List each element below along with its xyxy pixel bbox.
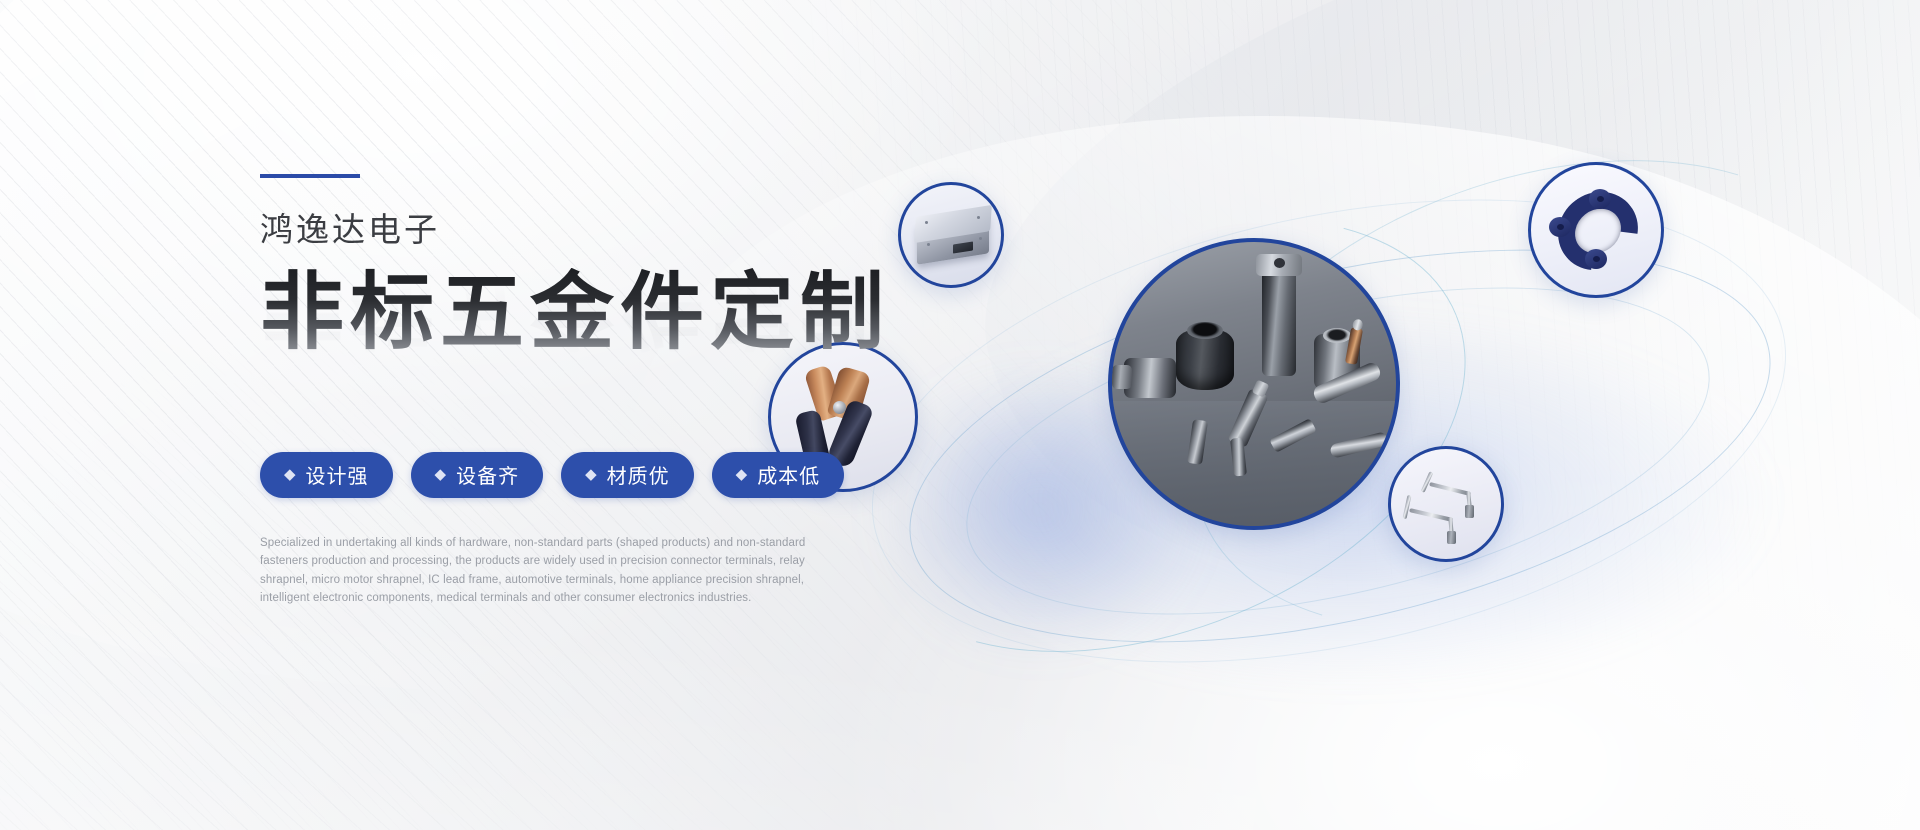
diamond-icon: ◆ [585, 467, 598, 482]
part-chrome-spindle [1262, 268, 1296, 376]
pin-contact-tip [1465, 505, 1474, 518]
diamond-icon: ◆ [435, 467, 448, 482]
retaining-ring-hole [1557, 224, 1564, 230]
feature-pill-list: ◆ 设计强 ◆ 设备齐 ◆ 材质优 ◆ 成本低 [260, 452, 940, 498]
page-title: 非标五金件定制 [260, 268, 940, 357]
product-node-bent-terminal-pins[interactable] [1388, 446, 1504, 562]
enclosure-screw [979, 237, 982, 240]
hero-banner: 鸿逸达电子 非标五金件定制 非标五金件定制 ◆ 设计强 ◆ 设备齐 ◆ 材质优 … [0, 0, 1920, 830]
feature-pill-label: 成本低 [757, 460, 820, 489]
feature-pill-label: 设备齐 [456, 460, 519, 489]
product-visual-stage [880, 120, 1860, 720]
feature-pill-label: 设计强 [306, 460, 369, 489]
enclosure-screw [977, 216, 980, 219]
feature-pill-cost[interactable]: ◆ 成本低 [712, 452, 845, 498]
feature-pill-material[interactable]: ◆ 材质优 [561, 452, 694, 498]
diamond-icon: ◆ [736, 467, 749, 482]
retaining-ring-hole [1593, 256, 1600, 262]
pin-segment [1409, 508, 1453, 522]
product-node-precision-hardware-parts[interactable] [1108, 238, 1400, 530]
pin-segment [1403, 495, 1412, 519]
headline-block: 非标五金件定制 非标五金件定制 [260, 268, 940, 438]
pin-contact-tip [1447, 531, 1456, 544]
retaining-ring-hole [1597, 196, 1604, 202]
accent-bar [260, 174, 360, 178]
brand-name: 鸿逸达电子 [260, 210, 940, 250]
hero-text-column: 鸿逸达电子 非标五金件定制 非标五金件定制 ◆ 设计强 ◆ 设备齐 ◆ 材质优 … [260, 174, 940, 608]
feature-pill-design[interactable]: ◆ 设计强 [260, 452, 393, 498]
bent-terminal-pins-image [1391, 449, 1501, 559]
precision-hardware-parts-image [1112, 242, 1396, 526]
intro-paragraph: Specialized in undertaking all kinds of … [260, 534, 820, 609]
pin-segment [1429, 482, 1471, 496]
part-black-bushing [1176, 328, 1234, 390]
blue-retaining-ring-image [1531, 165, 1661, 295]
diamond-icon: ◆ [284, 467, 297, 482]
product-node-blue-retaining-ring[interactable] [1528, 162, 1664, 298]
part-stepped-connector [1124, 358, 1176, 398]
feature-pill-label: 材质优 [607, 460, 670, 489]
feature-pill-equipment[interactable]: ◆ 设备齐 [411, 452, 544, 498]
